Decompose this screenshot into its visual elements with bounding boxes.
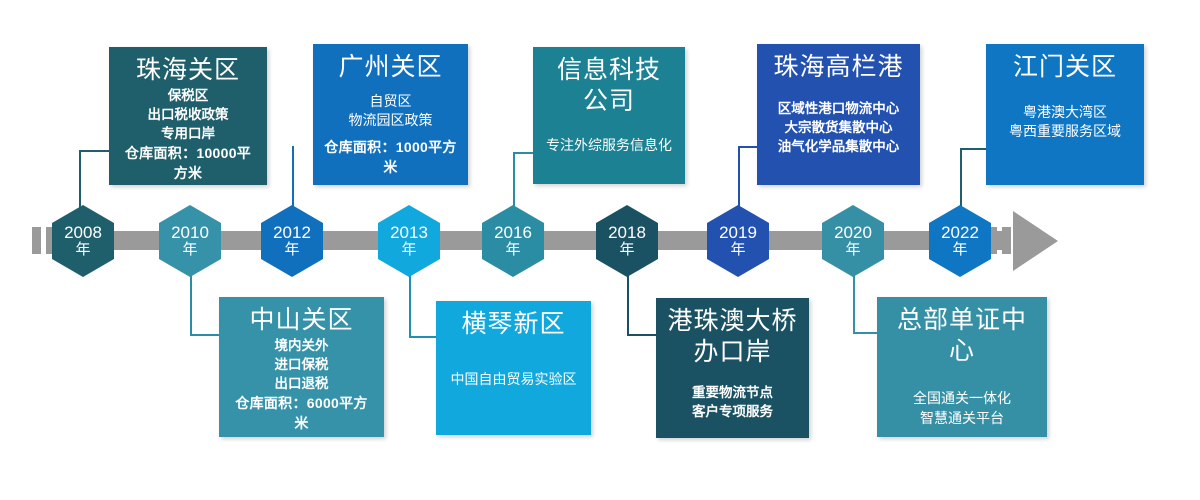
node-year-2022: 2022 [941,224,979,242]
timeline-end-dash-2 [1002,227,1011,254]
card-sub-2019-2: 大宗散货集散中心 [767,118,910,137]
card-sub-2020-2: 智慧通关平台 [887,409,1037,429]
card-sub-2022-1: 粤港澳大湾区 [996,103,1134,123]
card-sub-2010-2: 进口保税 [229,355,374,374]
card-sub-2010-3: 出口退税 [229,374,374,393]
card-title-2010: 中山关区 [229,305,374,336]
card-sub-2012-2: 物流园区政策 [323,111,458,131]
node-year-2012: 2012 [273,224,311,242]
node-year-suffix-2008: 年 [75,242,90,258]
timeline-node-2020[interactable]: 2020 年 [822,205,884,277]
card-title-2020: 总部单证中心 [887,305,1037,366]
card-meta-2010: 仓库面积：6000平方米 [229,393,374,433]
timeline-infographic: 2008 年 2010 年 2012 年 2013 年 2016 年 2018 … [0,0,1200,500]
timeline-start-dash-1 [32,227,41,254]
card-title-2016-line1: 信息科技 [543,55,675,86]
timeline-node-2010[interactable]: 2010 年 [159,205,221,277]
card-sub-2018-1: 重要物流节点 [666,383,799,402]
timeline-node-2012[interactable]: 2012 年 [261,205,323,277]
node-year-suffix-2018: 年 [619,242,634,258]
card-2016[interactable]: 信息科技 公司 专注外综服务信息化 [533,47,685,184]
timeline-node-2013[interactable]: 2013 年 [378,205,440,277]
card-title-2019: 珠海高栏港 [767,52,910,83]
node-year-suffix-2019: 年 [730,242,745,258]
node-year-2019: 2019 [719,224,757,242]
card-sub-2008-3: 专用口岸 [119,124,257,143]
timeline-node-2022[interactable]: 2022 年 [929,205,991,277]
timeline-arrow-icon [1013,211,1058,271]
card-sub-2019-1: 区域性港口物流中心 [767,99,910,118]
timeline-node-2019[interactable]: 2019 年 [707,205,769,277]
card-sub-2012-1: 自贸区 [323,92,458,112]
connector-2013-elbow [409,336,437,338]
card-title-2018-line1: 港珠澳大桥 [666,306,799,337]
card-sub-2008-2: 出口税收政策 [119,105,257,124]
node-year-suffix-2013: 年 [401,242,416,258]
connector-2018-elbow [627,334,657,336]
card-meta-2008: 仓库面积：10000平方米 [119,143,257,183]
card-title-2008: 珠海关区 [119,55,257,86]
card-title-2022: 江门关区 [996,52,1134,83]
card-sub-2008-1: 保税区 [119,86,257,105]
node-year-2016: 2016 [494,224,532,242]
timeline-node-2018[interactable]: 2018 年 [596,205,658,277]
card-2019[interactable]: 珠海高栏港 区域性港口物流中心 大宗散货集散中心 油气化学品集散中心 [757,44,920,185]
card-title-2012: 广州关区 [323,52,458,83]
card-sub-2016-1: 专注外综服务信息化 [543,136,675,156]
connector-2008-elbow [79,150,111,152]
node-year-suffix-2012: 年 [284,242,299,258]
node-year-2018: 2018 [608,224,646,242]
card-sub-2013-1: 中国自由贸易实验区 [446,370,581,390]
node-year-suffix-2010: 年 [182,242,197,258]
node-year-2010: 2010 [171,224,209,242]
card-2020[interactable]: 总部单证中心 全国通关一体化 智慧通关平台 [877,297,1047,437]
card-2010[interactable]: 中山关区 境内关外 进口保税 出口退税 仓库面积：6000平方米 [219,297,384,437]
card-2022[interactable]: 江门关区 粤港澳大湾区 粤西重要服务区域 [986,44,1144,185]
node-year-2013: 2013 [390,224,428,242]
timeline-node-2008[interactable]: 2008 年 [52,205,114,277]
card-sub-2019-3: 油气化学品集散中心 [767,137,910,156]
card-meta-2012: 仓库面积：1000平方米 [323,137,458,177]
card-sub-2020-1: 全国通关一体化 [887,389,1037,409]
node-year-suffix-2016: 年 [505,242,520,258]
card-2013[interactable]: 横琴新区 中国自由贸易实验区 [436,301,591,435]
node-year-2008: 2008 [64,224,102,242]
card-sub-2022-2: 粤西重要服务区域 [996,122,1134,142]
node-year-2020: 2020 [834,224,872,242]
card-2018[interactable]: 港珠澳大桥 办口岸 重要物流节点 客户专项服务 [656,298,809,438]
card-title-2013: 横琴新区 [446,309,581,340]
card-2012[interactable]: 广州关区 自贸区 物流园区政策 仓库面积：1000平方米 [313,44,468,185]
node-year-suffix-2020: 年 [845,242,860,258]
card-2008[interactable]: 珠海关区 保税区 出口税收政策 专用口岸 仓库面积：10000平方米 [109,47,267,185]
card-title-2016-line2: 公司 [543,86,675,117]
node-year-suffix-2022: 年 [952,242,967,258]
connector-2010-elbow [190,334,220,336]
timeline-node-2016[interactable]: 2016 年 [482,205,544,277]
card-title-2018-line2: 办口岸 [666,337,799,368]
card-sub-2018-2: 客户专项服务 [666,402,799,421]
card-sub-2010-1: 境内关外 [229,336,374,355]
